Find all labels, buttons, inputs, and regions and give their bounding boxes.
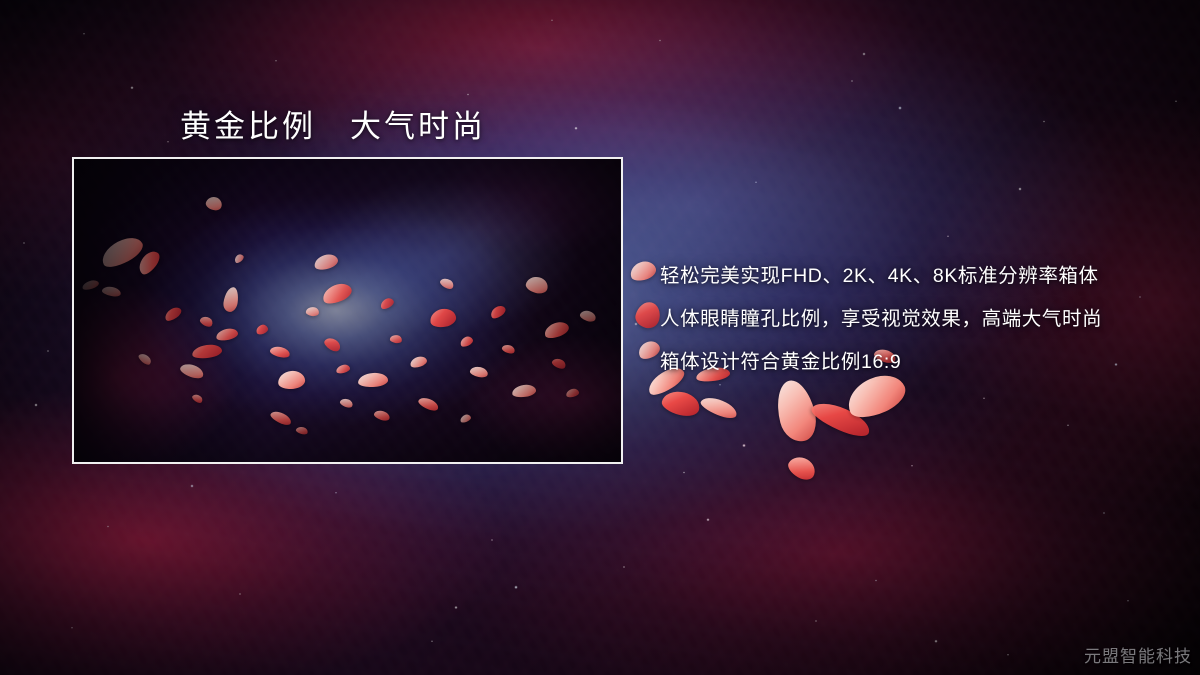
slide-canvas: 黄金比例 大气时尚 轻松完美实现FHD、2K、4K、8K标准分辨率箱体 人体眼睛… xyxy=(0,0,1200,675)
body-line: 轻松完美实现FHD、2K、4K、8K标准分辨率箱体 xyxy=(660,255,1180,298)
body-text-block: 轻松完美实现FHD、2K、4K、8K标准分辨率箱体 人体眼睛瞳孔比例，享受视觉效… xyxy=(660,255,1180,384)
framed-preview-panel[interactable] xyxy=(72,157,623,464)
watermark: 元盟智能科技 xyxy=(1084,642,1192,667)
panel-nebula-filaments xyxy=(72,157,623,464)
page-title: 黄金比例 大气时尚 xyxy=(180,101,486,146)
body-line: 人体眼睛瞳孔比例，享受视觉效果，高端大气时尚 xyxy=(660,298,1180,341)
body-line: 箱体设计符合黄金比例16:9 xyxy=(660,341,1180,384)
